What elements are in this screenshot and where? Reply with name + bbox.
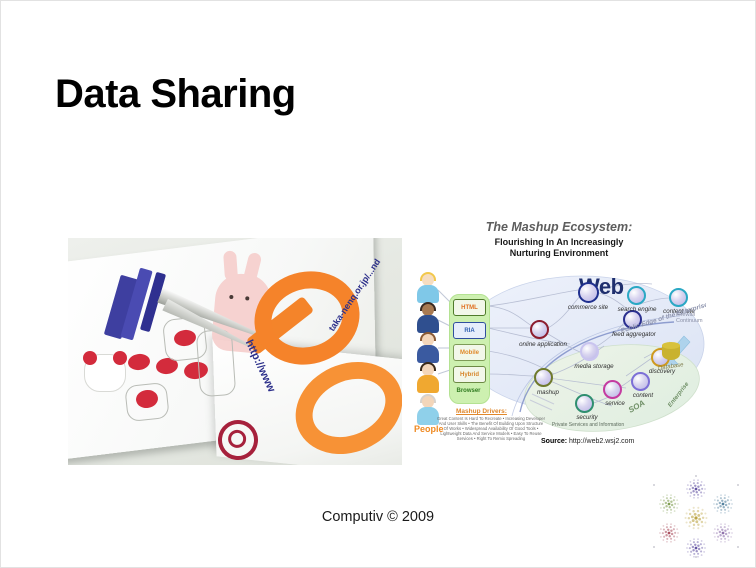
paper-craft-scissors-photo: http://www taka-nenq.or.jp/...nd	[68, 238, 402, 465]
computiv-dot-flower-logo	[646, 473, 746, 559]
printed-panda-figure	[84, 354, 126, 392]
page-title: Data Sharing	[55, 72, 296, 117]
node-media-storage	[580, 342, 599, 361]
browser-label: Browser	[449, 388, 488, 394]
database-cylinder-icon	[662, 342, 680, 362]
node-content	[631, 372, 650, 391]
label-private-services: Private Services and Information	[548, 422, 628, 429]
node-label-security: security	[561, 414, 613, 421]
node-mashup	[534, 368, 553, 387]
node-service	[603, 380, 622, 399]
presentation-slide: Data Sharing http://www taka-nenq.or.jp/	[0, 0, 756, 568]
node-label-media-storage: media storage	[568, 363, 620, 370]
node-label-feed-aggregator: feed aggregator	[608, 331, 660, 338]
mashup-drivers-body: Great Content Is Hard To Recreate • Incr…	[436, 416, 546, 441]
person-avatar	[416, 304, 440, 334]
node-commerce-site	[578, 282, 599, 303]
node-content-site	[669, 288, 688, 307]
source-url: http://web2.wsj2.com	[569, 438, 634, 445]
tech-chip-hybrid[interactable]: Hybrid	[453, 366, 486, 383]
diagram-source: Source: http://web2.wsj2.com	[541, 438, 634, 445]
printed-cut-outline	[196, 329, 237, 397]
person-avatar	[416, 364, 440, 394]
node-search-engine	[627, 286, 646, 305]
mashup-ecosystem-diagram: The Mashup Ecosystem: Flourishing In An …	[412, 216, 706, 456]
node-online-application	[530, 320, 549, 339]
node-label-mashup: mashup	[522, 389, 574, 396]
firewall-continuum-label: Firewall Continuum	[676, 312, 706, 324]
tech-chip-ria[interactable]: RIA	[453, 322, 486, 339]
tech-chip-mobile[interactable]: Mobile	[453, 344, 486, 361]
node-label-online-application: online application	[517, 341, 569, 348]
mashup-drivers-title: Mashup Drivers:	[456, 408, 507, 415]
node-label-content: content	[617, 392, 669, 399]
node-label-commerce-site: commerce site	[562, 304, 614, 311]
source-prefix: Source:	[541, 438, 567, 445]
tech-chip-html[interactable]: HTML	[453, 299, 486, 316]
node-security	[575, 394, 594, 413]
person-avatar	[416, 334, 440, 364]
person-avatar	[416, 274, 440, 304]
printed-cut-outline	[124, 382, 170, 422]
slide-footer: Computiv © 2009	[1, 509, 755, 525]
